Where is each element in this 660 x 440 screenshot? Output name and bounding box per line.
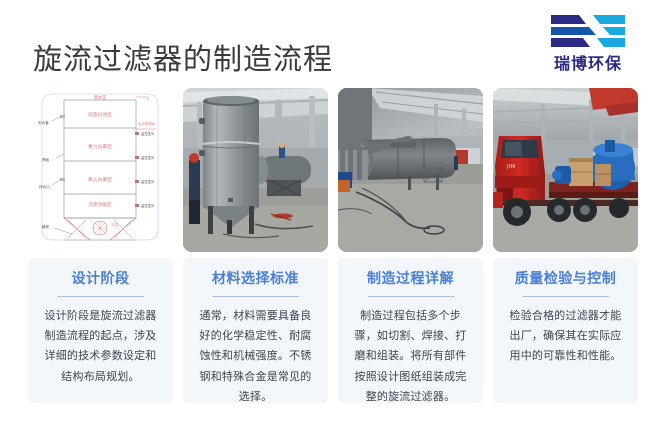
card-body: 通常，材料需要具备良好的化学稳定性、耐腐蚀性和机械强度。不锈钢和特殊合金是常见的… [194,306,317,408]
info-cards: 设计阶段 设计阶段是旋流过滤器制造流程的起点，涉及详细的技术参数设定和结构布局规… [28,258,638,408]
card-divider [58,296,144,297]
svg-text:监控发头: 监控发头 [141,131,155,136]
brand-name: 瑞博环保 [534,50,642,74]
photo-horizontal-tank-welding [338,88,483,252]
card-title: 质量检验与控制 [504,270,627,287]
svg-text:重力分离区: 重力分离区 [88,143,112,150]
svg-text:清水区: 清水区 [93,94,107,101]
truck-loading-photo: JH6 [493,88,638,252]
svg-text:布水管: 布水管 [38,120,49,125]
svg-text:罐体: 罐体 [42,224,50,229]
card-title: 设计阶段 [39,270,162,287]
photo-strip: 清水区 动态过滤区 重力分离区 离心分离区 污泥浓缩区 孔孔 布水管 筛板 [28,88,638,252]
svg-text:反冲洗排水: 反冲洗排水 [138,121,156,126]
brand-logo: 瑞博环保 [534,14,642,74]
svg-text:污泥浓缩区: 污泥浓缩区 [89,201,112,208]
photo-vertical-tank-fabrication [183,88,328,252]
card-divider [213,296,299,297]
card-body: 设计阶段是旋流过滤器制造流程的起点，涉及详细的技术参数设定和结构布局规划。 [39,306,162,387]
svg-text:动态过滤区: 动态过滤区 [88,111,112,118]
page-header: 旋流过滤器的制造流程 瑞博环保 [0,0,660,88]
cyclone-filter-schematic-drawing: 清水区 动态过滤区 重力分离区 离心分离区 污泥浓缩区 孔孔 布水管 筛板 [28,88,173,252]
svg-text:孔孔: 孔孔 [111,222,119,227]
card-design-stage: 设计阶段 设计阶段是旋流过滤器制造流程的起点，涉及详细的技术参数设定和结构布局规… [28,258,173,408]
svg-text:离心分离区: 离心分离区 [88,176,112,183]
svg-text:JH6: JH6 [506,164,515,170]
svg-text:筛板: 筛板 [42,157,50,162]
photo-cyclone-filter-schematic: 清水区 动态过滤区 重力分离区 离心分离区 污泥浓缩区 孔孔 布水管 筛板 [28,88,173,252]
card-body: 检验合格的过滤器才能出厂，确保其在实际应用中的可靠性和性能。 [504,306,627,367]
card-body: 制造过程包括多个步骤，如切割、焊接、打磨和组装。将所有部件按照设计图纸组装成完整… [349,306,472,408]
card-divider [368,296,454,297]
svg-text:监控发头: 监控发头 [141,203,155,208]
card-title: 材料选择标准 [194,270,317,287]
card-manufacturing-process: 制造过程详解 制造过程包括多个步骤，如切割、焊接、打磨和组装。将所有部件按照设计… [338,258,483,408]
card-divider [523,296,609,297]
card-quality-control: 质量检验与控制 检验合格的过滤器才能出厂，确保其在实际应用中的可靠性和性能。 [493,258,638,408]
page-title: 旋流过滤器的制造流程 [33,36,333,78]
brand-mark-icon [549,14,627,49]
svg-text:监控发头: 监控发头 [141,155,155,160]
card-material-selection: 材料选择标准 通常，材料需要具备良好的化学稳定性、耐腐蚀性和机械强度。不锈钢和特… [183,258,328,408]
vertical-tank-photo [183,88,328,252]
svg-text:排水口: 排水口 [39,184,50,189]
card-title: 制造过程详解 [349,270,472,287]
svg-text:监控发头: 监控发头 [141,179,155,184]
photo-truck-loading-equipment: JH6 [493,88,638,252]
horizontal-tank-photo [338,88,483,252]
